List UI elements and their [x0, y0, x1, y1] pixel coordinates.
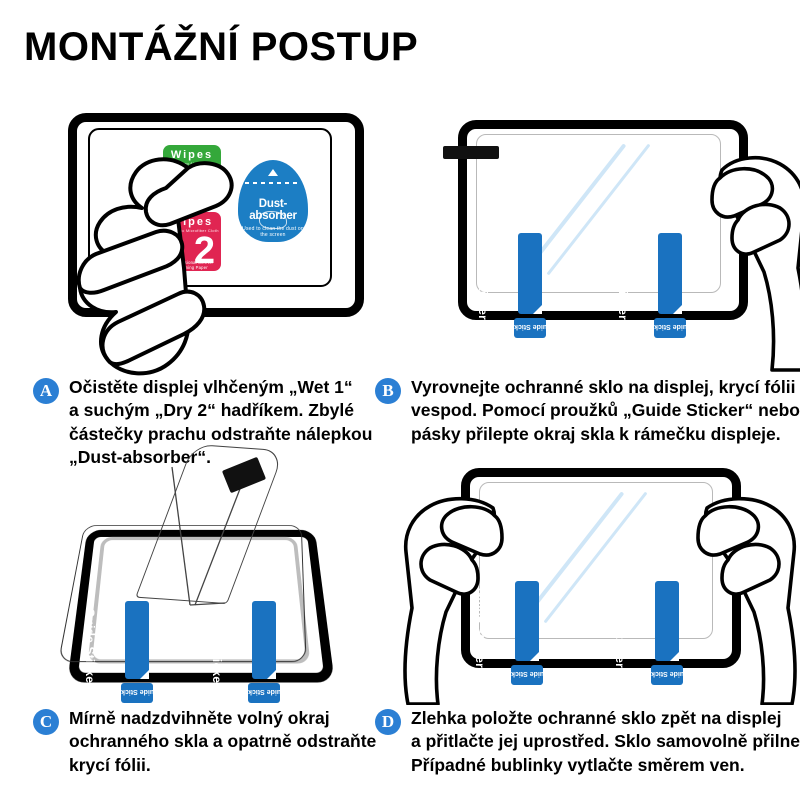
step-a-line-3: částečky prachu odstraňte nálepkou	[69, 423, 372, 446]
film-pull-tab-b	[443, 146, 499, 159]
glass-reflection-2	[544, 492, 648, 624]
guide-sticker-tab: Guide Sticker	[654, 318, 686, 338]
step-c-line-1: Mírně nadzdvihněte volný okraj	[69, 707, 376, 730]
step-b-line-3: pásky přilepte okraj skla k rámečku disp…	[411, 423, 800, 446]
guide-sticker-tab: Guide Sticker	[248, 683, 280, 703]
step-d-line-3: Případné bublinky vytlačte směrem ven.	[411, 754, 800, 777]
guide-sticker-fold-icon	[530, 652, 539, 661]
step-text-b: B Vyrovnejte ochranné sklo na displej, k…	[375, 376, 800, 446]
guide-sticker-label: Guide Sticker	[613, 588, 627, 668]
guide-sticker-strip: Guide Sticker	[518, 233, 542, 314]
dust-absorber-curved-text: Used to clean the dust on the screen	[238, 226, 308, 238]
step-c-line-3: krycí fólii.	[69, 754, 376, 777]
guide-sticker-strip: Guide Sticker	[515, 581, 539, 661]
illustration-step-c: Guide Sticker Guide Sticker Guide Sticke…	[40, 455, 390, 705]
step-b-paragraph: Vyrovnejte ochranné sklo na displej, kry…	[411, 376, 800, 446]
guide-sticker-label: Guide Sticker	[616, 240, 630, 320]
guide-sticker-tab-label: Guide Sticker	[511, 670, 543, 677]
step-badge-c: C	[33, 709, 59, 735]
guide-sticker-strip: Guide Sticker	[658, 233, 682, 314]
protective-glass-b	[476, 134, 721, 293]
guide-sticker-tab-label: Guide Sticker	[651, 670, 683, 677]
guide-sticker-fold-icon	[267, 670, 276, 679]
step-text-c: C Mírně nadzdvihněte volný okraj ochrann…	[33, 707, 376, 777]
dust-absorber-arrow-icon	[268, 169, 278, 176]
hand-right-b	[710, 148, 800, 373]
guide-sticker-tab-label: Guide Sticker	[514, 323, 546, 330]
illustration-step-b: Guide Sticker Guide Sticker Guide Sticke…	[420, 100, 790, 370]
guide-sticker-strip: Guide Sticker	[252, 601, 276, 679]
step-badge-a: A	[33, 378, 59, 404]
guide-sticker-tab: Guide Sticker	[121, 683, 153, 703]
page-title: MONTÁŽNÍ POSTUP	[24, 25, 418, 70]
guide-sticker-strip: Guide Sticker	[655, 581, 679, 661]
guide-sticker-fold-icon	[140, 670, 149, 679]
guide-sticker-tab: Guide Sticker	[651, 665, 683, 685]
step-b-line-1: Vyrovnejte ochranné sklo na displej, kry…	[411, 376, 800, 399]
step-d-line-2: a přitlačte jej uprostřed. Sklo samovoln…	[411, 730, 800, 753]
guide-sticker-fold-icon	[533, 305, 542, 314]
dust-absorber-perforation	[245, 182, 301, 184]
step-c-paragraph: Mírně nadzdvihněte volný okraj ochrannéh…	[69, 707, 376, 777]
step-badge-b: B	[375, 378, 401, 404]
step-a-line-2: a suchým „Dry 2“ hadříkem. Zbylé	[69, 399, 372, 422]
step-a-line-1: Očistěte displej vlhčeným „Wet 1“	[69, 376, 372, 399]
guide-sticker-tab-label: Guide Sticker	[121, 688, 153, 695]
illustration-step-d: Guide Sticker Guide Sticker Guide Sticke…	[395, 450, 795, 705]
hand-left-a	[38, 148, 248, 378]
guide-sticker-label: Guide Sticker	[476, 240, 490, 320]
step-b-line-2: vespod. Pomocí proužků „Guide Sticker“ n…	[411, 399, 800, 422]
guide-sticker-fold-icon	[673, 305, 682, 314]
guide-sticker-tab-label: Guide Sticker	[654, 323, 686, 330]
glass-reflection-2	[547, 144, 651, 276]
guide-sticker-label: Guide Sticker	[210, 608, 224, 688]
illustration-step-a: Wipes Sterilizing Alcohol 80% 1 Professi…	[40, 100, 380, 370]
guide-sticker-strip: Guide Sticker	[125, 601, 149, 679]
step-d-line-1: Zlehka položte ochranné sklo zpět na dis…	[411, 707, 800, 730]
step-c-line-2: ochranného skla a opatrně odstraňte	[69, 730, 376, 753]
step-text-d: D Zlehka položte ochranné sklo zpět na d…	[375, 707, 800, 777]
hand-right-d	[695, 490, 800, 705]
step-d-paragraph: Zlehka položte ochranné sklo zpět na dis…	[411, 707, 800, 777]
guide-sticker-fold-icon	[670, 652, 679, 661]
guide-sticker-label: Guide Sticker	[83, 608, 97, 688]
hand-left-d	[390, 490, 505, 705]
step-badge-d: D	[375, 709, 401, 735]
guide-sticker-tab: Guide Sticker	[511, 665, 543, 685]
guide-sticker-tab-label: Guide Sticker	[248, 688, 280, 695]
guide-sticker-tab: Guide Sticker	[514, 318, 546, 338]
